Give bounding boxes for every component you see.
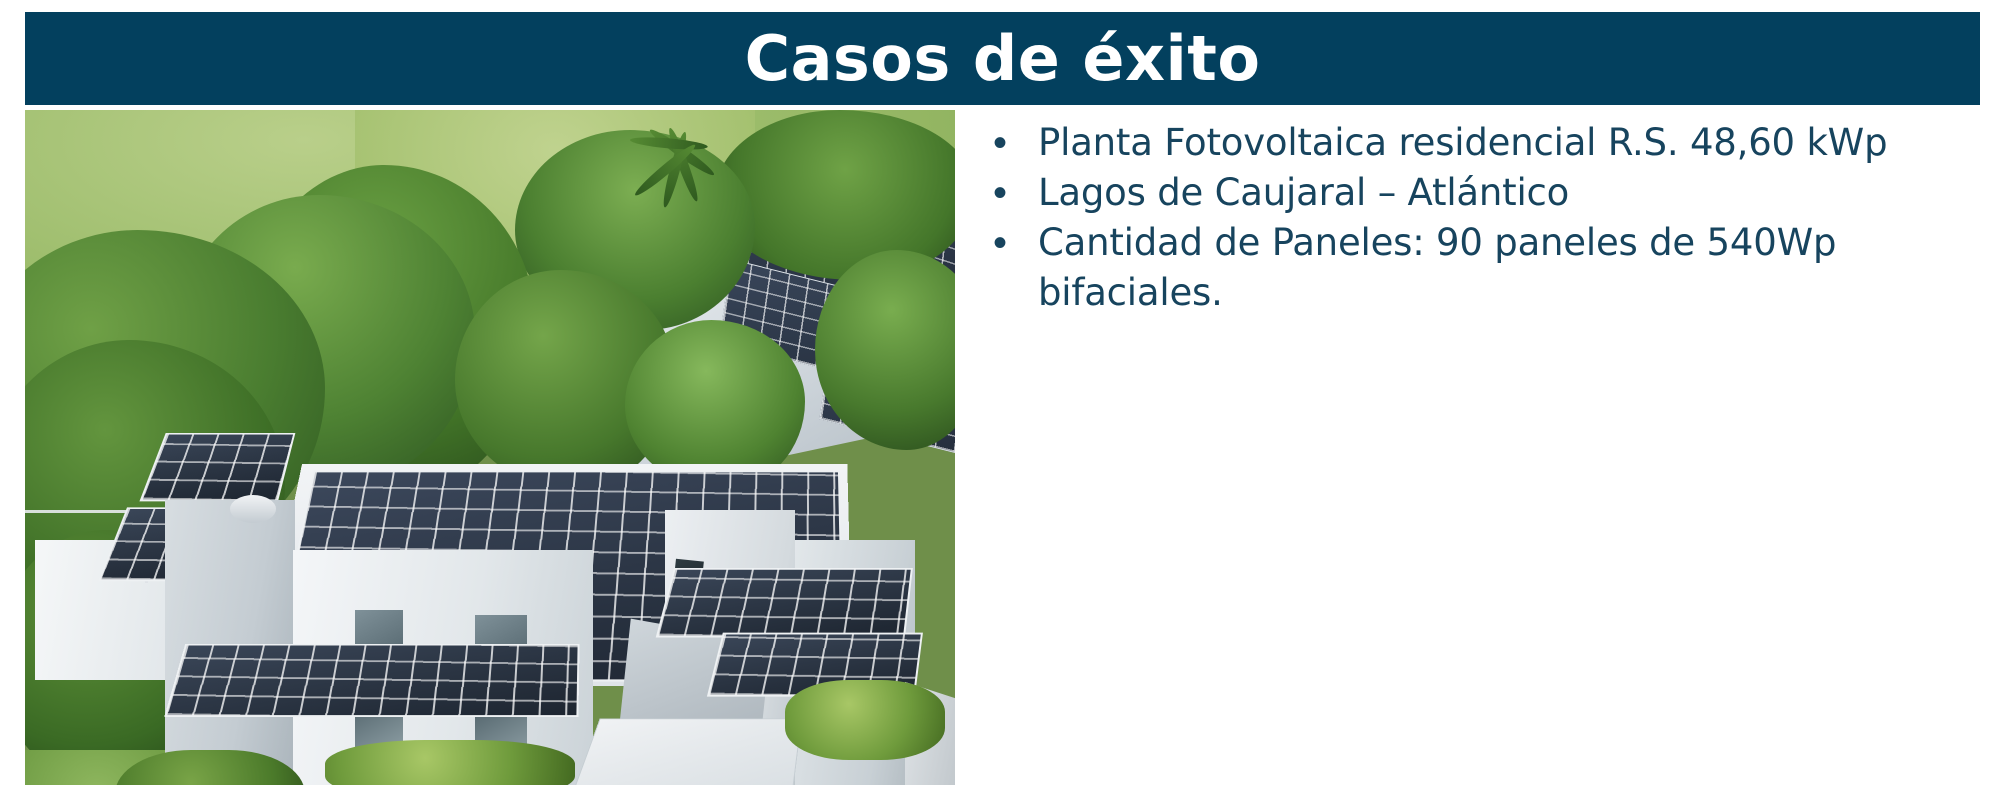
garden-hedge	[325, 740, 575, 785]
rooftop-water-tank	[230, 495, 276, 523]
lower-solar-array	[656, 568, 913, 638]
case-study-photo	[25, 110, 955, 785]
tilted-solar-array	[139, 433, 295, 501]
house-stair-tower	[165, 500, 295, 785]
bullet-icon: •	[985, 168, 1038, 218]
bullet-icon: •	[985, 218, 1038, 268]
garden-hedge	[785, 680, 945, 760]
list-item: • Lagos de Caujaral – Atlántico	[985, 168, 1975, 218]
slide-root: Casos de éxito	[0, 0, 2000, 799]
slide-title-banner: Casos de éxito	[25, 12, 1980, 105]
list-item: • Planta Fotovoltaica residencial R.S. 4…	[985, 118, 1975, 168]
bullet-item-text: Lagos de Caujaral – Atlántico	[1038, 168, 1569, 218]
bullet-item-text: Planta Fotovoltaica residencial R.S. 48,…	[1038, 118, 1887, 168]
lower-solar-array	[164, 644, 579, 717]
page-title: Casos de éxito	[745, 28, 1261, 90]
aerial-solar-house-image	[25, 110, 955, 785]
list-item: • Cantidad de Paneles: 90 paneles de 540…	[985, 218, 1975, 318]
bullet-icon: •	[985, 118, 1038, 168]
bullet-list: • Planta Fotovoltaica residencial R.S. 4…	[985, 118, 1975, 318]
entrance-canopy	[569, 718, 802, 785]
bullet-item-text: Cantidad de Paneles: 90 paneles de 540Wp…	[1038, 218, 1975, 318]
